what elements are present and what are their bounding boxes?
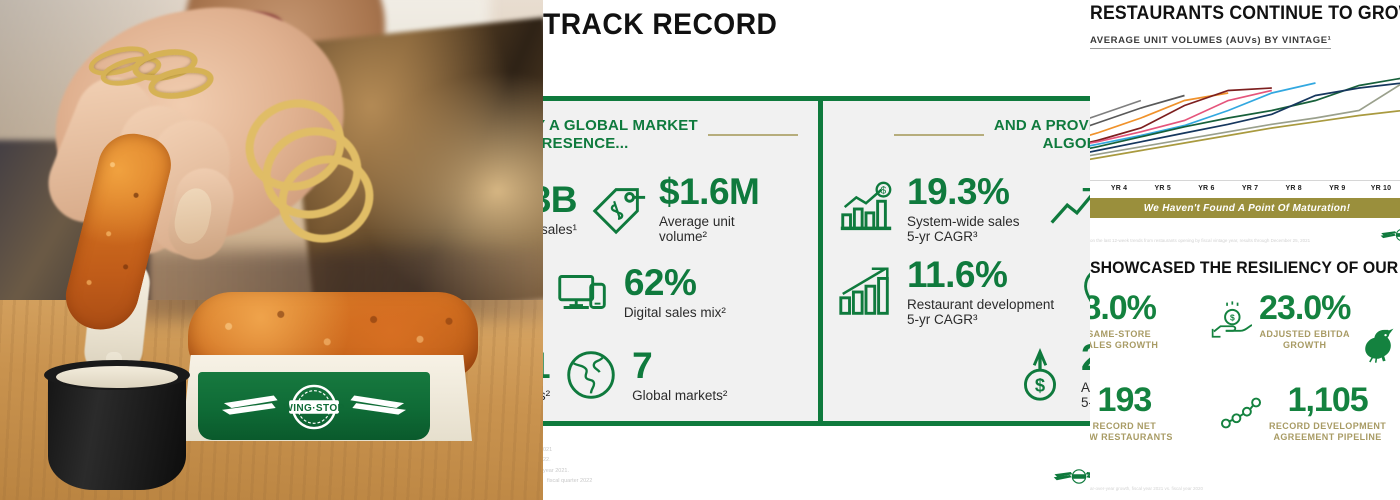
devices-icon <box>552 261 614 323</box>
stats-container: DRIVEN BY A GLOBAL MARKET PRESENCE... $2… <box>543 96 1090 426</box>
kpi-record-development-pipeline: 1,105 RECORD DEVELOPMENT AGREEMENT PIPEL… <box>1220 382 1386 443</box>
chart-x-axis: YR 2YR 3YR 4YR 5YR 6YR 7YR 8YR 9YR 10YR … <box>1090 180 1400 196</box>
wingstop-wings-logo <box>1380 228 1400 247</box>
footnote-line: 021 <box>543 445 569 455</box>
auv-by-vintage-chart <box>1090 58 1400 183</box>
stat-label: Average unit volume² <box>659 214 759 246</box>
footnote-line: year 2021. <box>543 466 569 476</box>
axis-tick-label: YR 6 <box>1185 185 1229 192</box>
kpi-record-net-new-restaurants: 193 RECORD NET NEW RESTAURANTS <box>1090 382 1173 443</box>
heading-rule <box>708 134 798 136</box>
kpi-label: RECORD NET NEW RESTAURANTS <box>1090 421 1173 444</box>
money-arrow-up-icon: $ <box>1009 344 1071 406</box>
global-presence-column: DRIVEN BY A GLOBAL MARKET PRESENCE... $2… <box>543 101 823 421</box>
stat-label: Restaurants² <box>543 388 550 404</box>
wingstop-wings-logo <box>1053 468 1090 490</box>
svg-text:$: $ <box>1035 374 1045 395</box>
bar-chart-dollar-icon: $ <box>835 178 897 240</box>
kpi-label: ADJUSTED EBITDA GROWTH <box>1259 329 1350 352</box>
stat-value: 11.6% <box>907 255 1054 295</box>
footnote-line: 22. <box>543 455 569 465</box>
stat-text: 21.8% Adjusted EBITDA 5-yr CAGR³ <box>1081 338 1090 412</box>
kpi-label: SAME-STORE SALES GROWTH <box>1090 329 1158 352</box>
stat-text-inner: $1.6M Average unit volume² <box>659 172 759 246</box>
global-presence-stats: $2.3B System-wide sales¹ <box>543 167 818 416</box>
price-tag-icon <box>587 178 649 240</box>
stat-value: $2.3B <box>543 180 577 220</box>
svg-text:WING·STOP: WING·STOP <box>283 403 344 414</box>
kpi-value: 193 <box>1090 382 1173 419</box>
bar-chart-arrow-icon <box>835 261 897 323</box>
footnote-line: fiscal quarter 2022 <box>547 478 592 484</box>
chart-footnote: on the last 12-week trends from restaura… <box>1090 238 1310 243</box>
stat-text: $2.3B System-wide sales¹ <box>543 180 577 238</box>
stat-label: System-wide sales¹ <box>543 222 577 238</box>
stat-value: 7 <box>632 346 727 386</box>
stat-item: $2.3B System-wide sales¹ <box>543 167 806 250</box>
chart-slide-subtitle: AVERAGE UNIT VOLUMES (AUVs) BY VINTAGE¹ <box>1090 35 1331 49</box>
resiliency-title: SHOWCASED THE RESILIENCY OF OUR MODEL <box>1090 258 1400 278</box>
slide-title: TRACK RECORD <box>543 8 777 42</box>
chart-series-line <box>1090 91 1272 159</box>
chart-slide-title: RESTAURANTS CONTINUE TO GROW ACROSS ALL … <box>1090 3 1400 25</box>
stat-text-inner: 7 Global markets² <box>632 346 727 404</box>
hand-coin-icon: $ <box>1210 300 1252 342</box>
stat-label: Adjusted EBITDA 5-yr CAGR³ <box>1081 380 1090 412</box>
presentation-composite: WING·STOP TRACK RECORD DRIVEN BY A GLOBA… <box>0 0 1400 500</box>
stat-text: 11.6% Restaurant development 5-yr CAGR³ <box>907 255 1054 329</box>
chart-series-line <box>1090 83 1400 167</box>
resiliency-footnote: ar-over-year growth, fiscal year 2021 vs… <box>1090 486 1203 491</box>
stat-value: $1.6M <box>659 172 759 212</box>
stat-item: 11.6% Restaurant development 5-yr CAGR³ <box>835 250 1090 333</box>
stat-label: Global markets² <box>632 388 727 404</box>
kpi-label: RECORD DEVELOPMENT AGREEMENT PIPELINE <box>1269 421 1386 444</box>
heading-rule <box>894 134 984 136</box>
stat-label: Digital sales mix² <box>624 305 726 321</box>
axis-tick-label: YR 10 <box>1359 185 1400 192</box>
stat-item: $ 19.3% System-wide sales 5-yr CAGR³ <box>835 167 1090 250</box>
axis-tick-label: YR 3 <box>1090 185 1097 192</box>
axis-tick-label: YR 7 <box>1228 185 1272 192</box>
stat-text: 1,791 Restaurants² <box>543 346 550 404</box>
growth-algorithm-column: AND A PROVEN GROWTH ALGORITHM <box>823 101 1090 421</box>
global-presence-heading: DRIVEN BY A GLOBAL MARKET PRESENCE... <box>543 117 818 152</box>
stat-item: 1,791 Restaurants² <box>543 333 806 416</box>
track-record-slide: TRACK RECORD DRIVEN BY A GLOBAL MARKET P… <box>543 0 1090 500</box>
growth-algorithm-heading-text: AND A PROVEN GROWTH ALGORITHM <box>994 117 1090 152</box>
svg-text:$: $ <box>1230 312 1235 322</box>
chicken-icon <box>1358 322 1400 364</box>
global-presence-heading-text: DRIVEN BY A GLOBAL MARKET PRESENCE... <box>543 117 698 152</box>
kpi-text: 1,105 RECORD DEVELOPMENT AGREEMENT PIPEL… <box>1269 382 1386 443</box>
growth-algorithm-stats: $ 19.3% System-wide sales 5-yr CAGR³ <box>823 167 1090 416</box>
trend-arrow-icon <box>1044 178 1090 240</box>
globe-icon <box>560 344 622 406</box>
photo-dip-cup-sauce <box>56 366 178 388</box>
kpi-text: 23.0% ADJUSTED EBITDA GROWTH <box>1259 290 1350 351</box>
growth-algorithm-heading: AND A PROVEN GROWTH ALGORITHM <box>823 117 1090 152</box>
kpi-grid: 8.0% SAME-STORE SALES GROWTH $ <box>1090 290 1400 465</box>
slide-footnotes: 021 22. year 2021. <box>543 445 569 476</box>
stat-text-inner: 62% Digital sales mix² <box>624 263 726 321</box>
axis-tick-label: YR 4 <box>1097 185 1141 192</box>
stat-label: System-wide sales 5-yr CAGR³ <box>907 214 1020 246</box>
axis-tick-label: YR 9 <box>1315 185 1359 192</box>
stat-text: 19.3% System-wide sales 5-yr CAGR³ <box>907 172 1020 246</box>
stat-item: 3M+ Unique digital guests² <box>543 250 806 333</box>
axis-tick-label: YR 5 <box>1141 185 1185 192</box>
axis-tick-label: YR 8 <box>1272 185 1316 192</box>
kpi-value: 1,105 <box>1269 382 1386 419</box>
chart-series-line <box>1090 88 1272 161</box>
stat-value: 21.8% <box>1081 338 1090 378</box>
stat-value: 1,791 <box>543 346 550 386</box>
wingstop-logo-basket: WING·STOP <box>216 384 412 430</box>
pipeline-icon <box>1220 392 1262 434</box>
stat-item: 21.8% Adjusted EBITDA 5-yr CAGR³ $ <box>835 333 1090 416</box>
kpi-bone-in-inflation: 72% BONE-IN INFLATION <box>1358 312 1400 373</box>
restaurant-pin-icon <box>1072 261 1090 323</box>
resiliency-slide: RESTAURANTS CONTINUE TO GROW ACROSS ALL … <box>1090 0 1400 500</box>
kpi-text: 8.0% SAME-STORE SALES GROWTH <box>1090 290 1158 351</box>
stat-value: 19.3% <box>907 172 1020 212</box>
hero-photo: WING·STOP <box>0 0 543 500</box>
kpi-text: 193 RECORD NET NEW RESTAURANTS <box>1090 382 1173 443</box>
maturation-banner: We Haven't Found A Point Of Maturation! <box>1090 198 1400 218</box>
kpi-value: 23.0% <box>1259 290 1350 327</box>
kpi-value: 8.0% <box>1090 290 1158 327</box>
kpi-adjusted-ebitda-growth: $ 23.0% ADJUSTED EBITDA GROWTH <box>1210 290 1350 351</box>
stat-label: Restaurant development 5-yr CAGR³ <box>907 297 1054 329</box>
stat-value: 62% <box>624 263 726 303</box>
svg-text:$: $ <box>881 185 887 196</box>
kpi-same-store-sales-growth: 8.0% SAME-STORE SALES GROWTH <box>1090 290 1158 351</box>
